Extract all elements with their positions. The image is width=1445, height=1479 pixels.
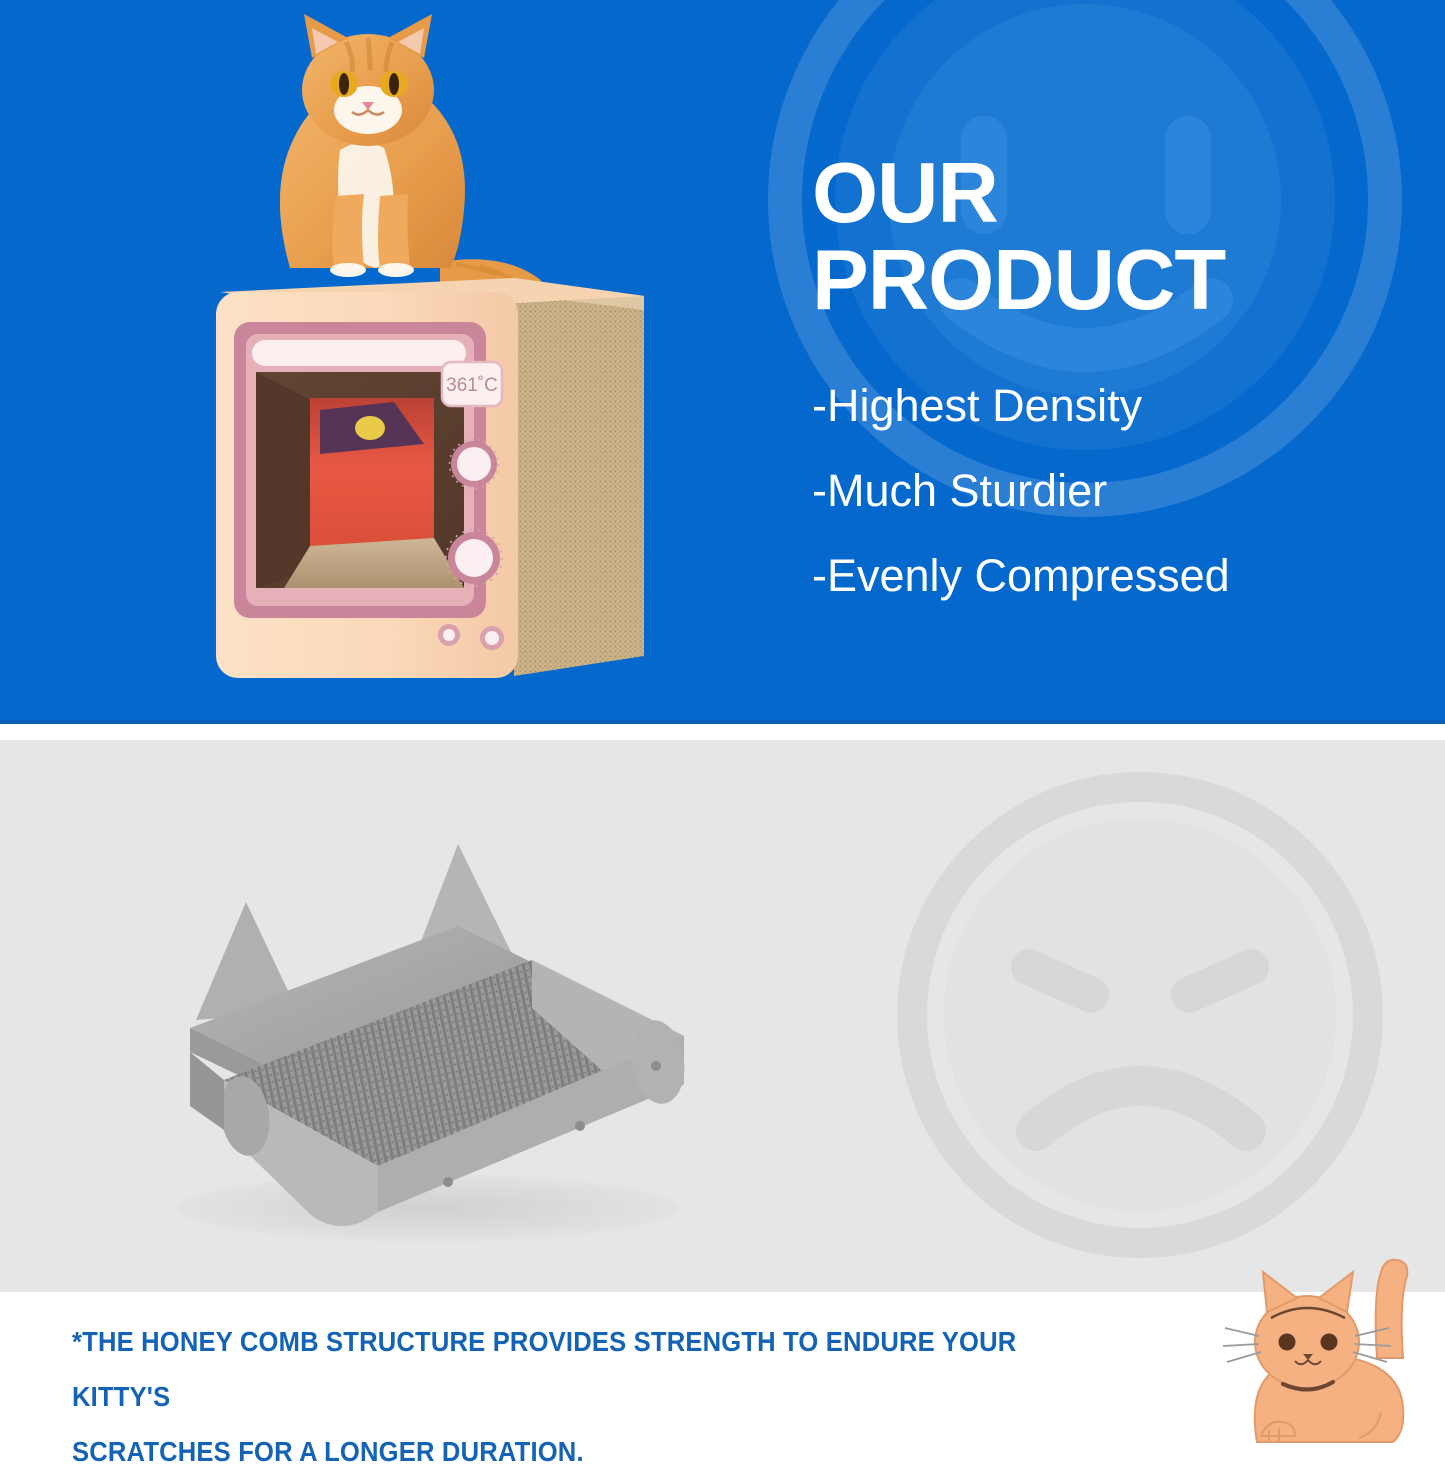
our-product-feature-list: -Highest Density -Much Sturdier -Evenly … xyxy=(812,383,1372,638)
product-button-2 xyxy=(480,626,504,650)
feature-item: -Much Sturdier xyxy=(812,468,1372,513)
product-photo-competitor-scratcher xyxy=(128,830,728,1250)
our-product-heading: OUR PRODUCT xyxy=(812,152,1332,323)
heading-line-1: OUR xyxy=(812,146,998,241)
angry-face-watermark-icon xyxy=(890,765,1390,1265)
our-product-section: 361˚C OUR xyxy=(0,0,1445,724)
heading-line-2: PRODUCT xyxy=(812,239,1332,322)
footer-note-line-2: SCRATCHES FOR A LONGER DURATION. xyxy=(72,1424,1114,1479)
cat-photo xyxy=(280,14,546,306)
feature-item: -Highest Density xyxy=(812,383,1372,428)
feature-item: -Evenly Compressed xyxy=(812,553,1372,598)
footer-note-line-1: *THE HONEY COMB STRUCTURE PROVIDES STREN… xyxy=(72,1314,1114,1424)
product-button-1 xyxy=(438,624,460,646)
infographic-page: 361˚C OUR xyxy=(0,0,1445,1445)
product-display-value: 361˚C xyxy=(446,375,498,396)
cat-mascot-icon xyxy=(1209,1250,1439,1446)
others-section: OTHERS -Large Grooves -Light Weight -Low… xyxy=(0,740,1445,1292)
product-photo-microwave-scratcher: 361˚C xyxy=(104,10,684,700)
footer-bar: *THE HONEY COMB STRUCTURE PROVIDES STREN… xyxy=(0,1292,1445,1445)
footer-note: *THE HONEY COMB STRUCTURE PROVIDES STREN… xyxy=(72,1314,1114,1479)
